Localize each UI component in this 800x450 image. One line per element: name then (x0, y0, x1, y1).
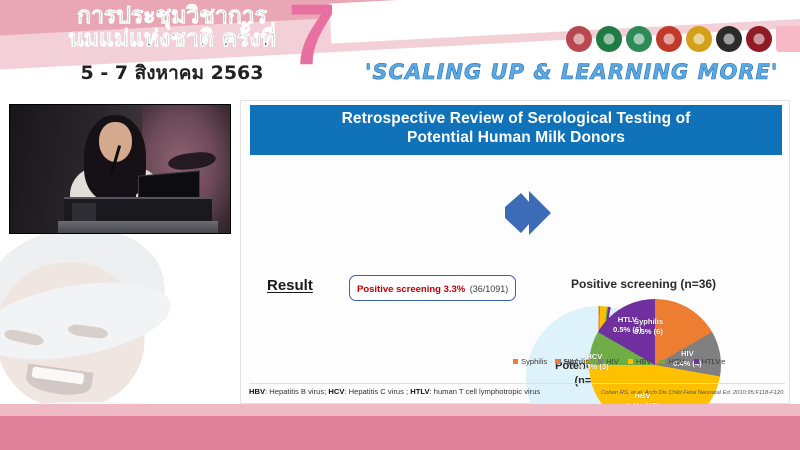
result-heading: Result (267, 277, 313, 294)
legend2-item-htlv: HTLV (694, 357, 721, 366)
slide-title-line1: Retrospective Review of Serological Test… (250, 110, 782, 129)
conference-thai-title-line2: นมแม่แห่งชาติ ครั้งที่ (22, 28, 322, 51)
slide-title: Retrospective Review of Serological Test… (250, 105, 782, 155)
legend2-label-hiv: HIV (606, 357, 619, 366)
legend2-swatch-hbv-icon (628, 359, 633, 364)
legend2-label-syphilis: Syphilis (563, 357, 589, 366)
logo-royal-emblem-gold-icon (686, 26, 712, 52)
legend2-label-htlv: HTLV (702, 357, 721, 366)
legend2-swatch-htlv-icon (694, 359, 699, 364)
logo-thai-breastfeeding-centre-icon (566, 26, 592, 52)
podium-base (58, 221, 218, 234)
footnote-htlv-value: : human T cell lymphotropic virus (430, 387, 541, 396)
logo-ministry-of-health-green-icon (596, 26, 622, 52)
presenter-video-feed[interactable] (9, 104, 231, 234)
pie-label-htlv-value: 0.5% (6) (613, 325, 642, 335)
legend2-item-hiv: HIV (598, 357, 619, 366)
presentation-slide: Retrospective Review of Serological Test… (240, 100, 790, 404)
legend2-item-hcv: HCV (660, 357, 684, 366)
footnote-hbv-key: HBV (249, 387, 265, 396)
slide-citation: Cohen RS, et al. Arch Dis Child Fetal Ne… (601, 390, 785, 396)
legend2-swatch-syphilis-icon (555, 359, 560, 364)
positive-screening-callout: Positive screening 3.3% (36/1091) (349, 275, 516, 301)
logo-nursing-council-black-icon (716, 26, 742, 52)
legend2-label-hbv: HBV (636, 357, 652, 366)
footnote-hcv-key: HCV (328, 387, 344, 396)
legend2-item-hbv: HBV (628, 357, 652, 366)
footnote-htlv-key: HTLV (410, 387, 429, 396)
podium-nameplate (72, 203, 96, 221)
footnote-hbv-value: : Hepatitis B virus; (265, 387, 328, 396)
legend2-swatch-hcv-icon (660, 359, 665, 364)
conference-thai-title-line1: การประชุมวิชาการ (22, 5, 322, 28)
logo-pediatric-society-maroon-icon (746, 26, 772, 52)
logo-health-department-green-icon (626, 26, 652, 52)
abbreviation-footnote: HBV: Hepatitis B virus; HCV: Hepatitis C… (249, 387, 540, 396)
conference-thai-title: การประชุมวิชาการ นมแม่แห่งชาติ ครั้งที่ (22, 5, 322, 52)
conference-header-banner: การประชุมวิชาการ นมแม่แห่งชาติ ครั้งที่ … (0, 0, 800, 95)
pie-label-htlv: HTLV 0.5% (6) (613, 315, 642, 334)
legend2-item-syphilis: Syphilis (555, 357, 589, 366)
callout-percentage-text: Positive screening 3.3% (357, 284, 465, 295)
logo-thaihealth-sss-icon (776, 26, 800, 52)
legend-item-syphilis: Syphilis (513, 357, 547, 366)
conference-tagline: 'SCALING UP & LEARNING MORE' (365, 60, 778, 84)
pie-label-htlv-name: HTLV (613, 315, 642, 325)
legend2-label-hcv: HCV (668, 357, 684, 366)
legend-swatch-syphilis-icon (513, 359, 518, 364)
positive-screening-chart-title: Positive screening (n=36) (571, 277, 716, 291)
callout-fraction-text: (36/1091) (470, 284, 509, 294)
footer-light-pink-strip (0, 404, 800, 416)
transition-arrow-icon (499, 191, 555, 243)
conference-date: 5 - 7 สิงหาคม 2563 (22, 58, 322, 88)
conference-edition-number: 7 (288, 0, 332, 78)
screenshot-root: การประชุมวิชาการ นมแม่แห่งชาติ ครั้งที่ … (0, 0, 800, 450)
slide-title-line2: Potential Human Milk Donors (250, 129, 782, 148)
slide-footnote: HBV: Hepatitis B virus; HCV: Hepatitis C… (249, 383, 785, 396)
positive-screening-legend: Syphilis HIV HBV HCV HTLV (555, 357, 720, 366)
sponsor-logo-row (566, 26, 800, 52)
footer-pink-strip (0, 416, 800, 450)
logo-royal-college-red-icon (656, 26, 682, 52)
legend2-swatch-hiv-icon (598, 359, 603, 364)
footnote-hcv-value: : Hepatitis C virus ; (344, 387, 410, 396)
legend-label-syphilis: Syphilis (521, 357, 547, 366)
